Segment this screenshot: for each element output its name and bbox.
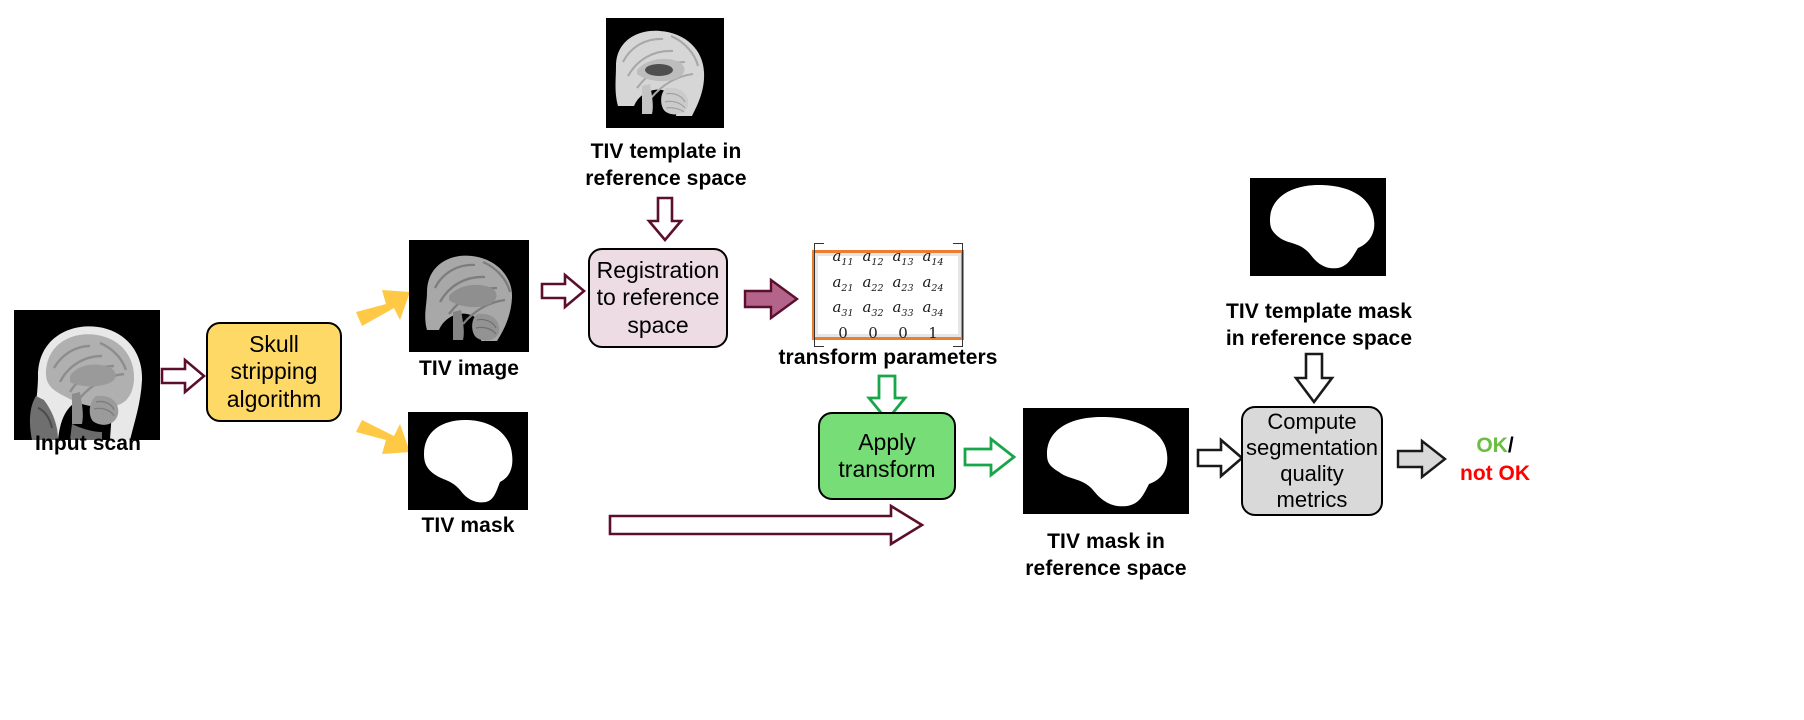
caption-tiv-template-line1: TIV template in [591,140,742,163]
box-skull-stripping-label: Skullstrippingalgorithm [221,331,328,412]
arrow-template-to-registration [644,196,686,242]
caption-tiv-template-mask-line2: in reference space [1226,327,1412,350]
verdict-not-ok: not OK [1460,462,1530,485]
arrow-applytransform-to-maskref [963,434,1017,480]
matrix-cell: 0 [828,322,858,345]
matrix-inner: a11a12a13a14a21a22a23a24a31a32a33a340001 [818,256,958,334]
matrix-cell: a14 [918,245,948,271]
box-compute-metrics-label: Computesegmentationqualitymetrics [1240,409,1384,513]
caption-input-scan: Input scan [0,430,176,457]
caption-transform-parameters: transform parameters [768,344,1008,371]
matrix-expression: a11a12a13a14a21a22a23a24a31a32a33a340001 [814,243,962,347]
image-tiv-mask-ref [1023,408,1189,514]
matrix-cell: 1 [918,322,948,345]
verdict-separator: / [1508,434,1514,457]
matrix-cell: 0 [858,322,888,345]
matrix-cell: 0 [888,322,918,345]
arrow-skullstrip-to-tivimage [352,278,414,330]
matrix-cell: a12 [858,245,888,271]
caption-input-scan-text: Input scan [35,432,141,455]
box-apply-transform[interactable]: Applytransform [818,412,956,500]
arrow-tivimage-to-registration [540,270,586,312]
matrix-cell: a23 [888,271,918,297]
diagram-canvas: Input scan Skullstrippingalgorithm [0,0,1804,720]
arrow-tivmask-to-applytransform [608,503,924,547]
arrow-skullstrip-to-tivmask [352,418,414,470]
image-tiv-template [606,18,724,128]
caption-tiv-image: TIV image [389,355,549,382]
matrix-grid: a11a12a13a14a21a22a23a24a31a32a33a340001 [823,243,953,347]
arrow-registration-to-matrix [742,275,800,323]
image-tiv-mask [408,412,528,510]
matrix-transform-parameters: a11a12a13a14a21a22a23a24a31a32a33a340001 [812,250,964,340]
box-registration[interactable]: Registrationto referencespace [588,248,728,348]
matrix-cell: a22 [858,271,888,297]
caption-tiv-mask-ref: TIV mask in reference space [1006,528,1206,583]
arrow-templatemask-to-metrics [1292,352,1336,404]
matrix-cell: a11 [828,245,858,271]
caption-transform-parameters-text: transform parameters [778,346,997,369]
matrix-cell: a24 [918,271,948,297]
matrix-cell: a34 [918,296,948,322]
caption-tiv-template-mask: TIV template mask in reference space [1196,298,1442,353]
caption-tiv-template-line2: reference space [585,167,746,190]
matrix-cell: a13 [888,245,918,271]
matrix-cell: a21 [828,271,858,297]
caption-tiv-mask-ref-line1: TIV mask in [1047,530,1165,553]
caption-tiv-mask: TIV mask [388,512,548,539]
image-tiv-template-mask [1250,178,1386,276]
caption-tiv-image-text: TIV image [419,357,519,380]
matrix-bracket-left [814,243,823,347]
matrix-bracket-right [953,243,962,347]
caption-tiv-mask-text: TIV mask [421,514,514,537]
matrix-cell: a31 [828,296,858,322]
caption-tiv-template: TIV template in reference space [570,138,762,193]
image-input-scan [14,310,160,440]
matrix-cell: a32 [858,296,888,322]
caption-tiv-template-mask-line1: TIV template mask [1226,300,1412,323]
box-compute-metrics[interactable]: Computesegmentationqualitymetrics [1241,406,1383,516]
arrow-input-to-skullstrip [160,355,206,397]
box-skull-stripping[interactable]: Skullstrippingalgorithm [206,322,342,422]
arrow-maskref-to-metrics [1196,436,1244,480]
verdict-block: OK/ not OK [1430,432,1560,489]
matrix-cell: a33 [888,296,918,322]
verdict-ok: OK [1476,434,1508,457]
caption-tiv-mask-ref-line2: reference space [1025,557,1186,580]
box-registration-label: Registrationto referencespace [591,257,726,338]
image-tiv-image [409,240,529,352]
box-apply-transform-label: Applytransform [832,429,941,483]
